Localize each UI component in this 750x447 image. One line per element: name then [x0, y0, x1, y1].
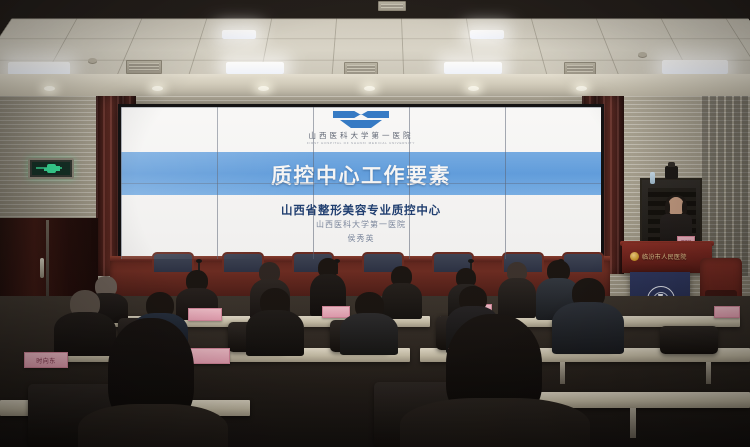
- hospital-logo-icon: [333, 111, 389, 129]
- attendee-foreground: [78, 318, 228, 447]
- speaker-hair-side-right: [682, 201, 687, 215]
- water-bottle: [650, 172, 655, 184]
- ceiling-panel-light: [662, 60, 728, 74]
- smoke-detector-icon: [638, 52, 647, 57]
- exit-sign: [28, 158, 74, 179]
- slide-subtitle: 山西省整形美容专业质控中心: [121, 202, 601, 218]
- led-video-wall[interactable]: 山西医科大学第一医院 FIRST HOSPITAL OF SHANXI MEDI…: [118, 104, 604, 262]
- desk-leg: [630, 408, 636, 438]
- slide-title: 质控中心工作要素: [121, 160, 601, 190]
- camera-icon: [665, 166, 678, 179]
- name-card: [714, 306, 740, 318]
- recessed-downlight: [258, 86, 269, 91]
- recessed-downlight: [468, 86, 479, 91]
- attendee: [246, 288, 304, 352]
- conference-hall-photo: 山西医科大学第一医院 FIRST HOSPITAL OF SHANXI MEDI…: [0, 0, 750, 447]
- exit-sign-face: [32, 162, 70, 175]
- recessed-downlight: [152, 86, 163, 91]
- desk-leg: [706, 362, 711, 384]
- door-handle[interactable]: [40, 258, 44, 278]
- attendee: [498, 262, 536, 318]
- ceiling-panel-light: [444, 62, 502, 74]
- recessed-downlight: [364, 86, 375, 91]
- slide-organization: 山西医科大学第一医院: [121, 219, 601, 230]
- attendee: [340, 292, 398, 352]
- recessed-downlight: [44, 86, 55, 91]
- exit-arrow-icon: [36, 167, 62, 169]
- chair-back: [660, 326, 718, 354]
- podium-sign-text: 临汾市人民医院: [642, 252, 687, 261]
- podium-sign: 临汾市人民医院: [630, 250, 702, 262]
- slide-logo-block: 山西医科大学第一医院 FIRST HOSPITAL OF SHANXI MEDI…: [121, 111, 601, 145]
- recessed-downlight: [576, 86, 587, 91]
- slide-logo-chinese-text: 山西医科大学第一医院: [121, 130, 601, 141]
- ceiling-air-vent: [378, 1, 406, 11]
- attendee-foreground: [400, 314, 590, 447]
- slide-presenter-name: 侯秀英: [121, 233, 601, 244]
- name-card-text: 时向东: [36, 356, 56, 365]
- ceiling-panel-light: [226, 62, 284, 74]
- name-card: 时向东: [24, 352, 68, 368]
- smoke-detector-icon: [88, 58, 97, 63]
- ceiling-panel-light: [222, 30, 256, 39]
- ceiling-panel-light: [470, 30, 504, 39]
- speaker-hair-side-left: [665, 201, 670, 215]
- hospital-emblem-icon: [630, 252, 639, 261]
- ceiling-air-vent: [126, 60, 162, 74]
- slide-logo-english-text: FIRST HOSPITAL OF SHANXI MEDICAL UNIVERS…: [121, 141, 601, 145]
- presentation-slide: 山西医科大学第一医院 FIRST HOSPITAL OF SHANXI MEDI…: [121, 107, 601, 259]
- screen-surface: 山西医科大学第一医院 FIRST HOSPITAL OF SHANXI MEDI…: [121, 107, 601, 259]
